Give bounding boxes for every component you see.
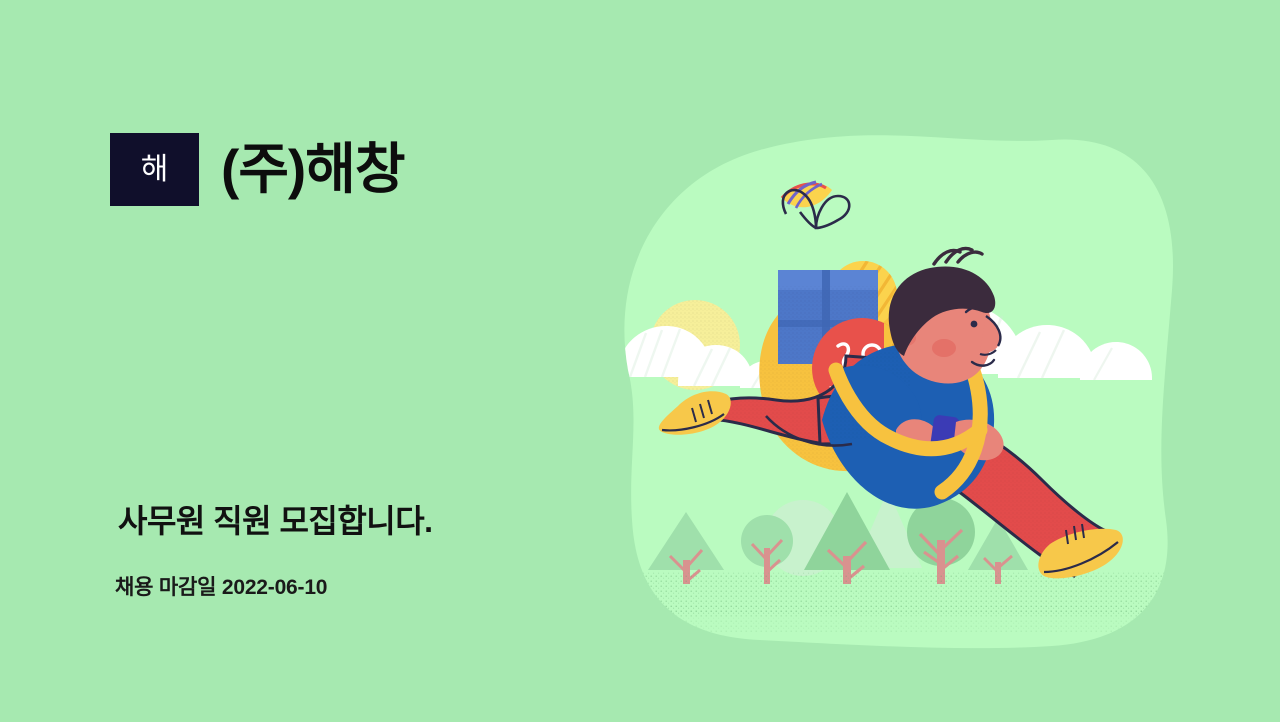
ground-texture <box>600 572 1200 632</box>
illustration-svg <box>600 120 1200 660</box>
application-deadline: 채용 마감일 2022-06-10 <box>115 575 327 600</box>
job-title: 사무원 직원 모집합니다. <box>118 504 433 539</box>
job-posting-card: 해 (주)해창 사무원 직원 모집합니다. 채용 마감일 2022-06-10 <box>0 0 1280 722</box>
company-header: 해 (주)해창 <box>110 133 404 206</box>
company-name: (주)해창 <box>221 142 404 197</box>
hero-illustration <box>600 120 1200 660</box>
company-logo-badge: 해 <box>110 133 199 206</box>
company-logo-initial: 해 <box>141 155 169 185</box>
